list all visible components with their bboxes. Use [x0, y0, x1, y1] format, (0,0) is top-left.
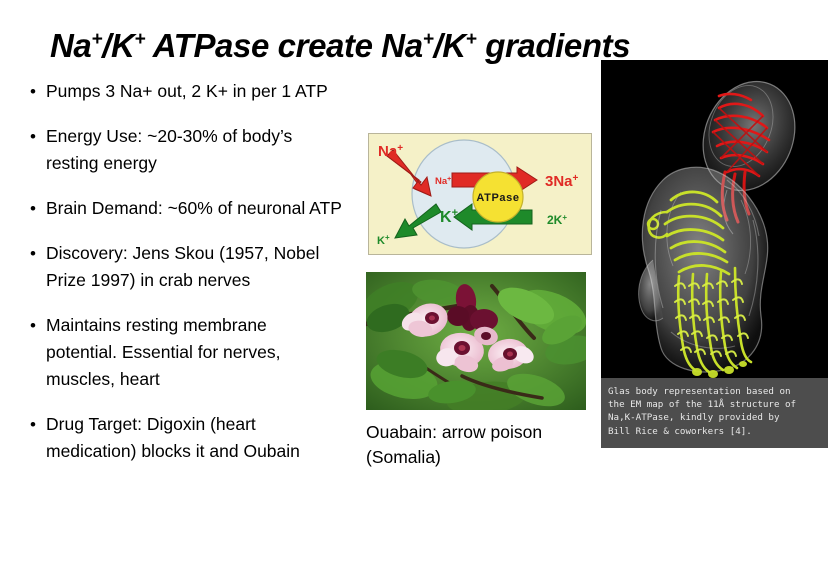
- flower-caption: Ouabain: arrow poison (Somalia): [366, 420, 606, 470]
- flower-caption-line-1: Ouabain: arrow poison: [366, 420, 606, 445]
- list-item: • Maintains resting membrane potential. …: [22, 312, 342, 393]
- flower-caption-line-2: (Somalia): [366, 445, 606, 470]
- bullet-marker-icon: •: [22, 78, 46, 105]
- na-k-atpase-em-figure: Glas body representation based on the EM…: [601, 60, 828, 448]
- list-item: • Brain Demand: ~60% of neuronal ATP: [22, 195, 342, 222]
- bullet-marker-icon: •: [22, 411, 46, 438]
- atpase-label: ATPase: [476, 192, 519, 204]
- em-caption-line-2: the EM map of the 11Å structure of: [608, 398, 822, 411]
- potassium-outside-label: K+: [377, 233, 390, 247]
- ouabain-plant-photo: [366, 272, 586, 410]
- bullet-marker-icon: •: [22, 195, 46, 222]
- list-item: • Energy Use: ~20-30% of body’s resting …: [22, 123, 342, 177]
- list-item-text: Brain Demand: ~60% of neuronal ATP: [46, 195, 342, 222]
- em-figure-caption: Glas body representation based on the EM…: [601, 378, 828, 448]
- bullet-marker-icon: •: [22, 312, 46, 339]
- sodium-out-count-label: 3Na+: [545, 173, 579, 190]
- potassium-in-count-label: 2K+: [547, 213, 567, 227]
- list-item-text: Drug Target: Digoxin (heart medication) …: [46, 411, 342, 465]
- list-item-text: Discovery: Jens Skou (1957, Nobel Prize …: [46, 240, 342, 294]
- list-item: • Discovery: Jens Skou (1957, Nobel Priz…: [22, 240, 342, 294]
- list-item: • Pumps 3 Na+ out, 2 K+ in per 1 ATP: [22, 78, 342, 105]
- list-item-text: Energy Use: ~20-30% of body’s resting en…: [46, 123, 342, 177]
- bullet-marker-icon: •: [22, 240, 46, 267]
- bullet-list: • Pumps 3 Na+ out, 2 K+ in per 1 ATP • E…: [22, 78, 342, 483]
- bullet-marker-icon: •: [22, 123, 46, 150]
- title-text: Na+/K+ ATPase create Na+/K+ gradients: [50, 27, 630, 64]
- em-structure-image: [601, 60, 828, 378]
- list-item-text: Pumps 3 Na+ out, 2 K+ in per 1 ATP: [46, 78, 342, 105]
- em-caption-line-1: Glas body representation based on: [608, 385, 822, 398]
- list-item: • Drug Target: Digoxin (heart medication…: [22, 411, 342, 465]
- em-caption-line-3: Na,K-ATPase, kindly provided by: [608, 411, 822, 424]
- na-k-pump-diagram: ATPase Na+ Na+ 3Na+ K+ K+ 2K+: [368, 133, 592, 255]
- em-caption-line-4: Bill Rice & coworkers [4].: [608, 425, 822, 438]
- list-item-text: Maintains resting membrane potential. Es…: [46, 312, 342, 393]
